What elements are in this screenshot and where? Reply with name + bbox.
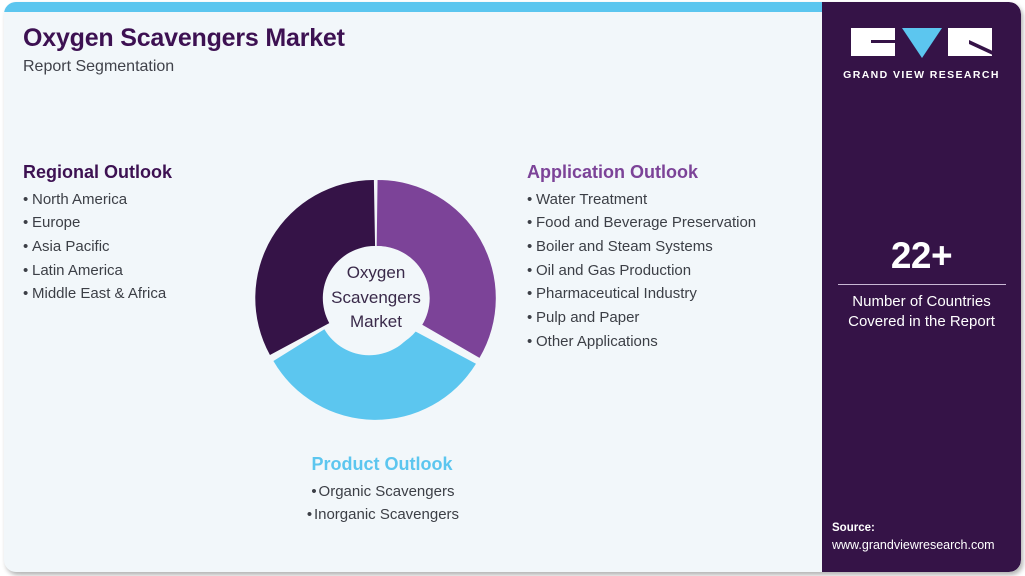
- bullet-icon: •: [23, 211, 32, 235]
- product-outlook-block: Product Outlook •Organic Scavengers •Ino…: [262, 454, 502, 527]
- product-outlook-list: •Organic Scavengers •Inorganic Scavenger…: [262, 480, 502, 527]
- list-item: •Pulp and Paper: [527, 306, 827, 330]
- list-item-label: Pharmaceutical Industry: [536, 285, 697, 302]
- infographic-card: Oxygen Scavengers Market Report Segmenta…: [4, 2, 1021, 572]
- list-item: •Pharmaceutical Industry: [527, 282, 827, 306]
- list-item: •Europe: [23, 211, 253, 235]
- list-item: •Oil and Gas Production: [527, 259, 827, 283]
- bullet-icon: •: [310, 480, 319, 504]
- page-title: Oxygen Scavengers Market: [23, 24, 623, 53]
- stat-divider: [838, 284, 1006, 285]
- bullet-icon: •: [23, 282, 32, 306]
- header: Oxygen Scavengers Market Report Segmenta…: [23, 24, 623, 76]
- list-item-label: Pulp and Paper: [536, 309, 639, 326]
- bullet-icon: •: [527, 235, 536, 259]
- bullet-icon: •: [527, 259, 536, 283]
- gvr-logo-icon: [851, 26, 993, 62]
- donut-svg: [236, 158, 516, 438]
- source-url[interactable]: www.grandviewresearch.com: [832, 537, 1021, 555]
- list-item: •Middle East & Africa: [23, 282, 253, 306]
- list-item-label: Asia Pacific: [32, 238, 110, 255]
- list-item-label: Middle East & Africa: [32, 285, 166, 302]
- regional-outlook-heading: Regional Outlook: [23, 162, 253, 183]
- list-item: •Water Treatment: [527, 188, 827, 212]
- logo-wordmark: GRAND VIEW RESEARCH: [843, 69, 1000, 81]
- list-item-label: Latin America: [32, 262, 123, 279]
- application-outlook-list: •Water Treatment •Food and Beverage Pres…: [527, 188, 827, 354]
- list-item: •Organic Scavengers: [262, 480, 502, 504]
- bullet-icon: •: [527, 188, 536, 212]
- list-item-label: Food and Beverage Preservation: [536, 214, 756, 231]
- list-item-label: Other Applications: [536, 333, 658, 350]
- source-block: Source: www.grandviewresearch.com: [832, 520, 1021, 554]
- application-outlook-heading: Application Outlook: [527, 162, 827, 183]
- top-accent-bar: [4, 2, 822, 12]
- segmentation-donut-chart: Oxygen Scavengers Market: [236, 158, 516, 438]
- list-item: •Food and Beverage Preservation: [527, 211, 827, 235]
- list-item-label: Inorganic Scavengers: [314, 506, 459, 523]
- stat-value: 22+: [822, 237, 1021, 276]
- list-item-label: Oil and Gas Production: [536, 262, 691, 279]
- logo-marks: [851, 26, 993, 62]
- stat-label-line-2: Covered in the Report: [822, 312, 1021, 332]
- stat-label-line-1: Number of Countries: [822, 292, 1021, 312]
- product-outlook-heading: Product Outlook: [262, 454, 502, 475]
- list-item-label: Organic Scavengers: [319, 483, 455, 500]
- list-item-label: Boiler and Steam Systems: [536, 238, 713, 255]
- donut-hole: [324, 246, 428, 350]
- bullet-icon: •: [23, 259, 32, 283]
- list-item: •Inorganic Scavengers: [262, 503, 502, 527]
- list-item-label: Europe: [32, 214, 80, 231]
- bullet-icon: •: [23, 235, 32, 259]
- list-item: •Asia Pacific: [23, 235, 253, 259]
- page-subtitle: Report Segmentation: [23, 57, 623, 76]
- list-item: •Latin America: [23, 259, 253, 283]
- sidebar-panel: GRAND VIEW RESEARCH 22+ Number of Countr…: [822, 2, 1021, 572]
- stat-block: 22+ Number of Countries Covered in the R…: [822, 237, 1021, 332]
- infographic-root: Oxygen Scavengers Market Report Segmenta…: [0, 0, 1025, 576]
- bullet-icon: •: [527, 211, 536, 235]
- source-title: Source:: [832, 520, 1021, 536]
- list-item: •Boiler and Steam Systems: [527, 235, 827, 259]
- bullet-icon: •: [527, 282, 536, 306]
- list-item: •North America: [23, 188, 253, 212]
- application-outlook-block: Application Outlook •Water Treatment •Fo…: [527, 162, 827, 354]
- list-item: •Other Applications: [527, 330, 827, 354]
- bullet-icon: •: [527, 330, 536, 354]
- regional-outlook-list: •North America •Europe •Asia Pacific •La…: [23, 188, 253, 306]
- brand-logo: GRAND VIEW RESEARCH: [822, 26, 1021, 81]
- bullet-icon: •: [305, 503, 314, 527]
- list-item-label: North America: [32, 191, 127, 208]
- regional-outlook-block: Regional Outlook •North America •Europe …: [23, 162, 253, 306]
- bullet-icon: •: [23, 188, 32, 212]
- bullet-icon: •: [527, 306, 536, 330]
- list-item-label: Water Treatment: [536, 191, 647, 208]
